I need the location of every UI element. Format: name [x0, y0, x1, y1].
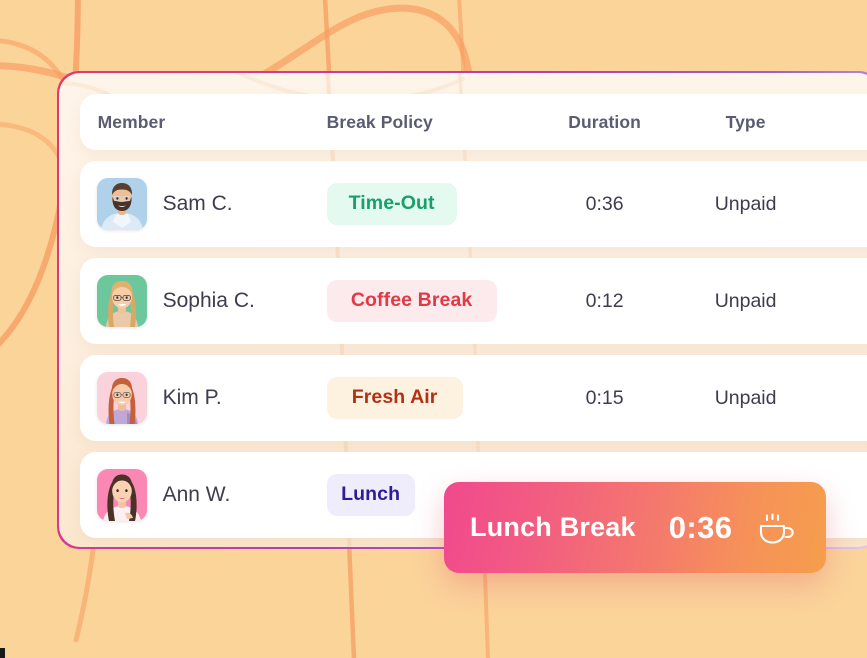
avatar — [97, 469, 147, 521]
column-header-member: Member — [98, 94, 166, 150]
coffee-cup-icon — [754, 508, 796, 548]
column-header-type: Type — [678, 94, 814, 150]
type-value: Unpaid — [678, 258, 814, 344]
type-value: Unpaid — [678, 355, 814, 441]
member-name: Kim P. — [163, 386, 222, 410]
avatar-sam-icon — [97, 178, 147, 230]
break-policy-badge[interactable]: Lunch — [327, 474, 415, 516]
duration-value: 0:36 — [532, 161, 678, 247]
member-cell: Kim P. — [97, 355, 222, 441]
avatar-kim-icon — [97, 372, 147, 424]
break-policy-badge[interactable]: Coffee Break — [327, 280, 497, 322]
member-cell: Sophia C. — [97, 258, 255, 344]
duration-value: 0:15 — [532, 355, 678, 441]
avatar — [97, 275, 147, 327]
column-header-break-policy: Break Policy — [327, 94, 433, 150]
break-policy-label: Time-Out — [349, 192, 435, 215]
break-policy-badge[interactable]: Fresh Air — [327, 377, 463, 419]
table-header-row: Member Break Policy Duration Type — [80, 94, 867, 150]
lunch-break-timer: 0:36 — [669, 510, 733, 546]
break-policy-label: Lunch — [341, 483, 400, 506]
lunch-break-label: Lunch Break — [470, 512, 636, 543]
corner-marker — [0, 648, 5, 658]
member-name: Sam C. — [163, 192, 233, 216]
break-policy-label: Coffee Break — [351, 289, 473, 312]
table-row[interactable]: Sophia C. Coffee Break 0:12 Unpaid — [80, 258, 867, 344]
type-value: Unpaid — [678, 161, 814, 247]
table-row[interactable]: Kim P. Fresh Air 0:15 Unpaid — [80, 355, 867, 441]
column-header-duration: Duration — [532, 94, 678, 150]
break-policy-label: Fresh Air — [352, 386, 438, 409]
lunch-break-toast[interactable]: Lunch Break 0:36 — [444, 482, 826, 573]
break-table-card-inner: Member Break Policy Duration Type — [59, 73, 867, 548]
avatar — [97, 372, 147, 424]
avatar-ann-icon — [97, 469, 147, 521]
member-name: Sophia C. — [163, 289, 255, 313]
avatar-sophia-icon — [97, 275, 147, 327]
avatar — [97, 178, 147, 230]
table-row[interactable]: Sam C. Time-Out 0:36 Unpaid — [80, 161, 867, 247]
member-cell: Sam C. — [97, 161, 233, 247]
break-policy-badge[interactable]: Time-Out — [327, 183, 457, 225]
break-table-card: Member Break Policy Duration Type — [57, 71, 867, 549]
member-name: Ann W. — [163, 483, 231, 507]
member-cell: Ann W. — [97, 452, 231, 538]
duration-value: 0:12 — [532, 258, 678, 344]
